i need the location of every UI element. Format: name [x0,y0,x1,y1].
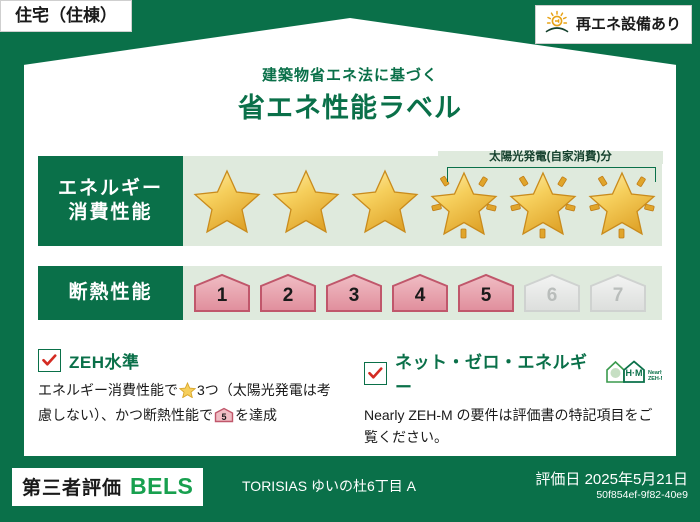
page-title: 省エネ性能ラベル [0,86,700,125]
energy-performance-stars-panel: 太陽光発電(自家消費)分 [183,156,662,246]
renewable-equipment-badge: 再エネ設備あり [535,5,692,44]
sun-icon [544,10,570,39]
energy-performance-row: エネルギー 消費性能 [38,156,662,246]
net-zero-title: ネット・ゼロ・エネルギー [395,348,594,398]
svg-text:ZEH-M: ZEH-M [648,376,662,382]
bels-certification-badge: 第三者評価 BELS [12,468,203,506]
svg-text:H·M: H·M [626,368,643,378]
net-zero-check-icon [364,362,387,385]
zeh-standard-block: ZEH水準 エネルギー消費性能で3つ（太陽光発電は考慮しない）、かつ断熱性能で5… [24,348,350,448]
star-icon [179,382,196,405]
evaluation-id: 50f854ef-9f82-40e9 [596,489,688,501]
insulation-level-5-value: 5 [455,272,517,314]
insulation-level-2: 2 [257,272,319,314]
net-zero-energy-block: ネット・ゼロ・エネルギー H·M Nearly ZEH-M Nearly ZEH… [350,348,676,448]
zeh-standard-body: エネルギー消費性能で3つ（太陽光発電は考慮しない）、かつ断熱性能で5を達成 [38,380,336,429]
house-5-icon: 5 [214,407,234,430]
insulation-levels-panel: 1 2 3 4 [183,266,662,320]
bels-logo-text: BELS [130,473,193,500]
insulation-level-7: 7 [587,272,649,314]
zeh-standard-title: ZEH水準 [69,348,140,373]
insulation-level-6-value: 6 [521,272,583,314]
insulation-level-3-value: 3 [323,272,385,314]
zeh-standard-heading: ZEH水準 [38,348,336,373]
insulation-level-4: 4 [389,272,451,314]
insulation-level-3: 3 [323,272,385,314]
nearly-zeh-m-logo-icon: H·M Nearly ZEH-M [604,357,662,390]
renewable-equipment-label: 再エネ設備あり [576,17,681,32]
star-1 [187,156,266,246]
building-type-label: 住宅（住棟） [15,6,117,25]
net-zero-body: Nearly ZEH-M の要件は評価書の特記項目をご覧ください。 [364,405,662,448]
insulation-performance-label: 断熱性能 [38,266,183,320]
insulation-level-1-value: 1 [191,272,253,314]
net-zero-heading: ネット・ゼロ・エネルギー H·M Nearly ZEH-M [364,348,662,398]
energy-performance-label: エネルギー 消費性能 [38,156,183,246]
zeh-body-post: を達成 [235,407,277,423]
insulation-level-7-value: 7 [587,272,649,314]
zeh-body-pre: エネルギー消費性能で [38,382,178,398]
insulation-level-5: 5 [455,272,517,314]
building-type-badge: 住宅（住棟） [0,0,132,32]
insulation-level-scale: 1 2 3 4 [183,272,649,314]
insulation-level-4-value: 4 [389,272,451,314]
label-subtitle: 建築物省エネ法に基づく [0,64,700,85]
zeh-check-icon [38,349,61,372]
insulation-level-1: 1 [191,272,253,314]
energy-label-card: 住宅（住棟） 再エネ設備あり 建築物省エネ法に基づく 省エ [0,0,700,522]
star-3 [345,156,424,246]
building-name: TORISIAS ゆいの杜6丁目 A [242,476,416,496]
solar-caption: 太陽光発電(自家消費)分 [438,151,663,164]
criteria-columns: ZEH水準 エネルギー消費性能で3つ（太陽光発電は考慮しない）、かつ断熱性能で5… [24,348,676,448]
svg-text:5: 5 [221,412,226,422]
insulation-performance-row: 断熱性能 1 [38,266,662,320]
insulation-level-6: 6 [521,272,583,314]
third-party-label: 第三者評価 [22,473,122,500]
insulation-level-2-value: 2 [257,272,319,314]
evaluation-date: 評価日 2025年5月21日 [535,468,688,489]
label-footer: 第三者評価 BELS TORISIAS ゆいの杜6丁目 A 評価日 2025年5… [0,460,700,522]
star-2 [266,156,345,246]
solar-bracket [447,167,656,182]
